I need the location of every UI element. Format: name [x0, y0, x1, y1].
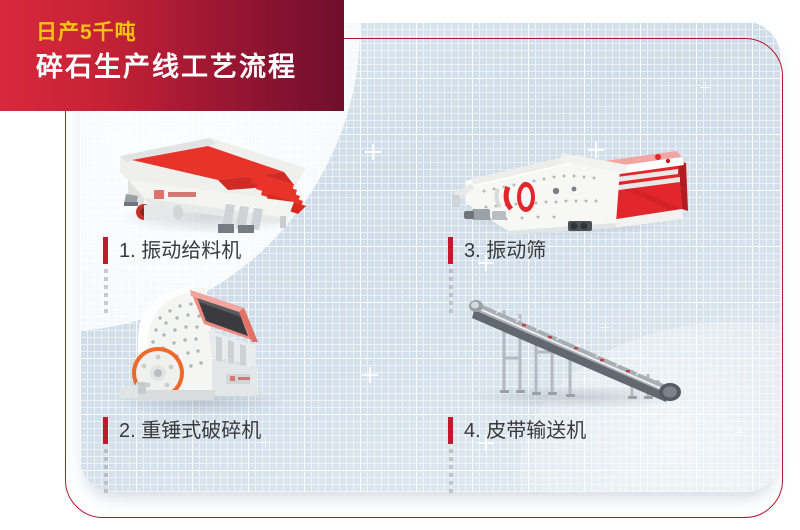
vibrating-screen-illustration [450, 135, 690, 235]
step-marker-bar [103, 417, 108, 444]
step-4-label-text: 4. 皮带输送机 [464, 421, 586, 441]
title-banner: 日产5千吨 碎石生产线工艺流程 [0, 0, 344, 111]
step-2-label-group[interactable]: 2. 重锤式破碎机 [103, 417, 261, 444]
banner-subtitle: 日产5千吨 [36, 20, 334, 46]
step-2-label-text: 2. 重锤式破碎机 [119, 421, 261, 441]
step-marker-bar [448, 237, 453, 264]
belt-conveyor-illustration [462, 280, 697, 405]
step-1-label-group[interactable]: 1. 振动给料机 [103, 237, 241, 264]
step-4-label-group[interactable]: 4. 皮带输送机 [448, 417, 586, 444]
heavy-hammer-crusher-illustration [108, 278, 288, 403]
step-3-label-text: 3. 振动筛 [464, 241, 546, 261]
vibrating-feeder-illustration [98, 128, 313, 233]
banner-title: 碎石生产线工艺流程 [36, 49, 334, 85]
infographic-root: 1. 振动给料机 [0, 0, 800, 530]
title-banner-content: 日产5千吨 碎石生产线工艺流程 [36, 20, 334, 86]
step-marker-bar [103, 237, 108, 264]
step-1-label-text: 1. 振动给料机 [119, 241, 241, 261]
step-marker-bar [448, 417, 453, 444]
step-3-label-group[interactable]: 3. 振动筛 [448, 237, 546, 264]
